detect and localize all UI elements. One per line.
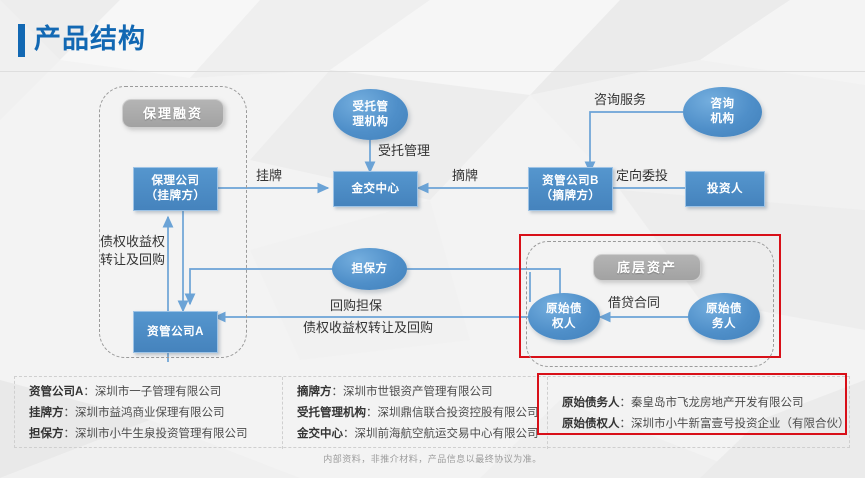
legend-value: 深圳市小牛新富壹号投资企业（有限合伙） <box>631 418 850 430</box>
legend-label: 资管公司A <box>29 386 83 398</box>
legend-value: 深圳市小牛生泉投资管理有限公司 <box>75 428 248 440</box>
legend-separator: ： <box>332 386 344 398</box>
underlying-asset-group-label: 底层资产 <box>593 254 701 281</box>
legend-label: 原始债权人 <box>562 418 620 430</box>
legend-item: 挂牌方：深圳市益鸿商业保理有限公司 <box>29 406 282 420</box>
node-asset-mgmt-a-label: 资管公司A <box>147 325 204 340</box>
edge-label-loan-contract: 借贷合同 <box>608 295 660 311</box>
legend-separator: ： <box>620 418 632 430</box>
footer-note: 内部资料，非推介材料，产品信息以最终协议为准。 <box>0 452 865 465</box>
title-accent-bar <box>18 24 25 57</box>
legend-value: 深圳市益鸿商业保理有限公司 <box>75 407 225 419</box>
node-asset-mgmt-a[interactable]: 资管公司A <box>133 311 218 353</box>
node-original-debtor[interactable]: 原始债 务人 <box>688 293 760 340</box>
legend-label: 受托管理机构 <box>297 407 366 419</box>
node-asset-mgmt-b[interactable]: 资管公司B （摘牌方） <box>528 167 613 211</box>
legend-separator: ： <box>64 428 76 440</box>
legend-value: 秦皇岛市飞龙房地产开发有限公司 <box>631 397 804 409</box>
node-consulting-line2: 机构 <box>711 112 735 127</box>
legend-label: 担保方 <box>29 428 64 440</box>
legend-column-1: 资管公司A：深圳市一子管理有限公司 挂牌方：深圳市益鸿商业保理有限公司 担保方：… <box>15 377 283 449</box>
legend-item: 担保方：深圳市小牛生泉投资管理有限公司 <box>29 427 282 441</box>
edge-label-listing: 挂牌 <box>256 168 282 184</box>
node-trustee-line1: 受托管 <box>353 100 389 115</box>
legend-value: 深圳市世银资产管理有限公司 <box>343 386 493 398</box>
legend-item: 原始债务人：秦皇岛市飞龙房地产开发有限公司 <box>562 396 851 410</box>
node-factoring-company[interactable]: 保理公司 （挂牌方） <box>133 167 218 211</box>
node-trustee-line2: 理机构 <box>353 115 389 130</box>
node-guarantor[interactable]: 担保方 <box>332 248 407 290</box>
legend-separator: ： <box>620 397 632 409</box>
node-asset-mgmt-b-line1: 资管公司B <box>542 174 599 189</box>
legend-column-3: 原始债务人：秦皇岛市飞龙房地产开发有限公司 原始债权人：深圳市小牛新富壹号投资企… <box>548 377 851 449</box>
edge-label-transfer-repo-line1: 债权收益权 <box>100 234 165 250</box>
node-guarantor-label: 担保方 <box>352 262 388 277</box>
node-factoring-company-line1: 保理公司 <box>152 174 200 189</box>
product-structure-diagram: 保理融资 底层资产 保理公司 （挂牌方） 金交中心 资管公司B （摘牌方） 投资… <box>0 72 865 372</box>
legend-separator: ： <box>366 407 378 419</box>
node-exchange-center[interactable]: 金交中心 <box>333 171 418 207</box>
edge-label-transfer-repo-full: 债权收益权转让及回购 <box>303 320 433 336</box>
node-original-creditor-line2: 权人 <box>552 317 576 332</box>
legend-label: 摘牌方 <box>297 386 332 398</box>
page-title: 产品结构 <box>34 20 146 58</box>
node-investor-label: 投资人 <box>707 182 743 197</box>
node-original-creditor-line1: 原始债 <box>546 302 582 317</box>
node-consulting-line1: 咨询 <box>711 97 735 112</box>
node-original-debtor-line1: 原始债 <box>706 302 742 317</box>
legend-column-2: 摘牌方：深圳市世银资产管理有限公司 受托管理机构：深圳鼎信联合投资控股有限公司 … <box>283 377 548 449</box>
legend-label: 挂牌方 <box>29 407 64 419</box>
node-consulting-institution[interactable]: 咨询 机构 <box>683 87 762 137</box>
legend-panel: 资管公司A：深圳市一子管理有限公司 挂牌方：深圳市益鸿商业保理有限公司 担保方：… <box>14 376 850 448</box>
edge-label-consulting-service: 咨询服务 <box>594 92 646 108</box>
legend-separator: ： <box>64 407 76 419</box>
node-exchange-center-label: 金交中心 <box>352 182 400 197</box>
node-original-debtor-line2: 务人 <box>712 317 736 332</box>
edge-label-entrusted-management: 受托管理 <box>378 143 430 159</box>
edge-label-delisting: 摘牌 <box>452 168 478 184</box>
legend-label: 金交中心 <box>297 428 343 440</box>
header-divider <box>0 71 865 72</box>
legend-value: 深圳前海航空航运交易中心有限公司 <box>355 428 539 440</box>
node-asset-mgmt-b-line2: （摘牌方） <box>541 189 601 204</box>
edge-label-directed-investment: 定向委投 <box>616 168 668 184</box>
legend-value: 深圳市一子管理有限公司 <box>95 386 222 398</box>
legend-separator: ： <box>83 386 95 398</box>
edge-label-transfer-repo-line2: 转让及回购 <box>100 252 165 268</box>
legend-item: 资管公司A：深圳市一子管理有限公司 <box>29 385 282 399</box>
legend-item: 原始债权人：深圳市小牛新富壹号投资企业（有限合伙） <box>562 417 851 431</box>
legend-item: 摘牌方：深圳市世银资产管理有限公司 <box>297 385 547 399</box>
node-trustee-institution[interactable]: 受托管 理机构 <box>333 89 408 140</box>
node-original-creditor[interactable]: 原始债 权人 <box>528 293 600 340</box>
page-header: 产品结构 <box>0 0 865 72</box>
node-factoring-company-line2: （挂牌方） <box>146 189 206 204</box>
legend-separator: ： <box>343 428 355 440</box>
legend-label: 原始债务人 <box>562 397 620 409</box>
legend-item: 受托管理机构：深圳鼎信联合投资控股有限公司 <box>297 406 547 420</box>
node-investor[interactable]: 投资人 <box>685 171 765 207</box>
edge-label-repo-guarantee: 回购担保 <box>330 298 382 314</box>
legend-item: 金交中心：深圳前海航空航运交易中心有限公司 <box>297 427 547 441</box>
financing-group-label: 保理融资 <box>122 99 224 128</box>
legend-value: 深圳鼎信联合投资控股有限公司 <box>378 407 539 419</box>
